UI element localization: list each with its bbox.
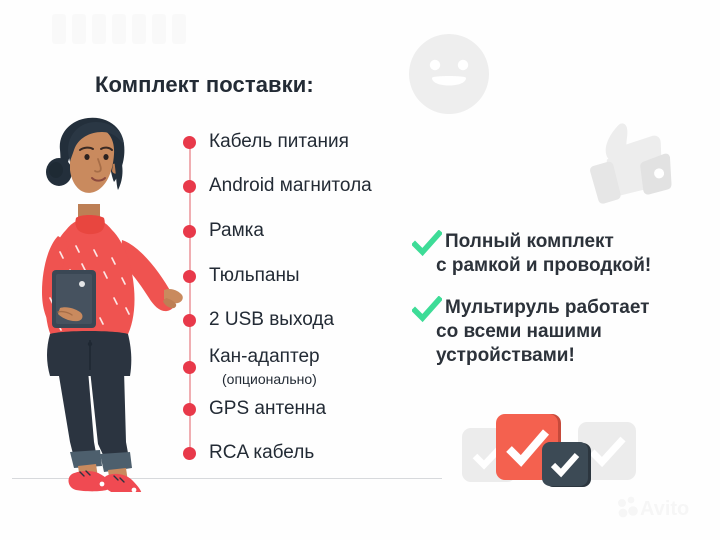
highlight-line: Мультируль работает xyxy=(445,296,649,320)
list-item-label: Android магнитола xyxy=(209,176,372,195)
avito-watermark: Avito xyxy=(616,494,708,520)
page-title: Комплект поставки: xyxy=(95,72,314,98)
list-item-sublabel: (опционально) xyxy=(222,372,317,386)
check-glyph-icon xyxy=(542,442,588,486)
checkbox-card-dark xyxy=(542,442,588,486)
list-item-label: Кан-адаптер xyxy=(209,347,320,366)
background-texture-watermark xyxy=(48,6,228,70)
highlight-line: с рамкой и проводкой! xyxy=(436,254,651,278)
list-item-label: Кабель питания xyxy=(209,132,349,151)
highlight-line: устройствами! xyxy=(436,344,575,368)
list-item-label: Рамка xyxy=(209,221,264,240)
woman-with-tablet-pointing-illustration xyxy=(14,112,186,492)
highlight-line: Полный комплект xyxy=(445,230,614,254)
smiley-face-icon xyxy=(408,33,490,115)
list-item-label: RCA кабель xyxy=(209,443,314,462)
svg-text:Avito: Avito xyxy=(640,498,689,520)
package-contents-list: Кабель питания Android магнитола Рамка Т… xyxy=(178,132,428,462)
list-item-label: Тюльпаны xyxy=(209,266,300,285)
highlight-line: со всеми нашими xyxy=(436,320,602,344)
list-item-label: GPS антенна xyxy=(209,399,326,418)
list-item-label: 2 USB выхода xyxy=(209,310,334,329)
thumbs-up-icon xyxy=(574,112,678,212)
checkbox-card-cluster xyxy=(462,412,632,484)
promo-image-canvas: Комплект поставки: Кабель питания Androi… xyxy=(0,0,720,540)
